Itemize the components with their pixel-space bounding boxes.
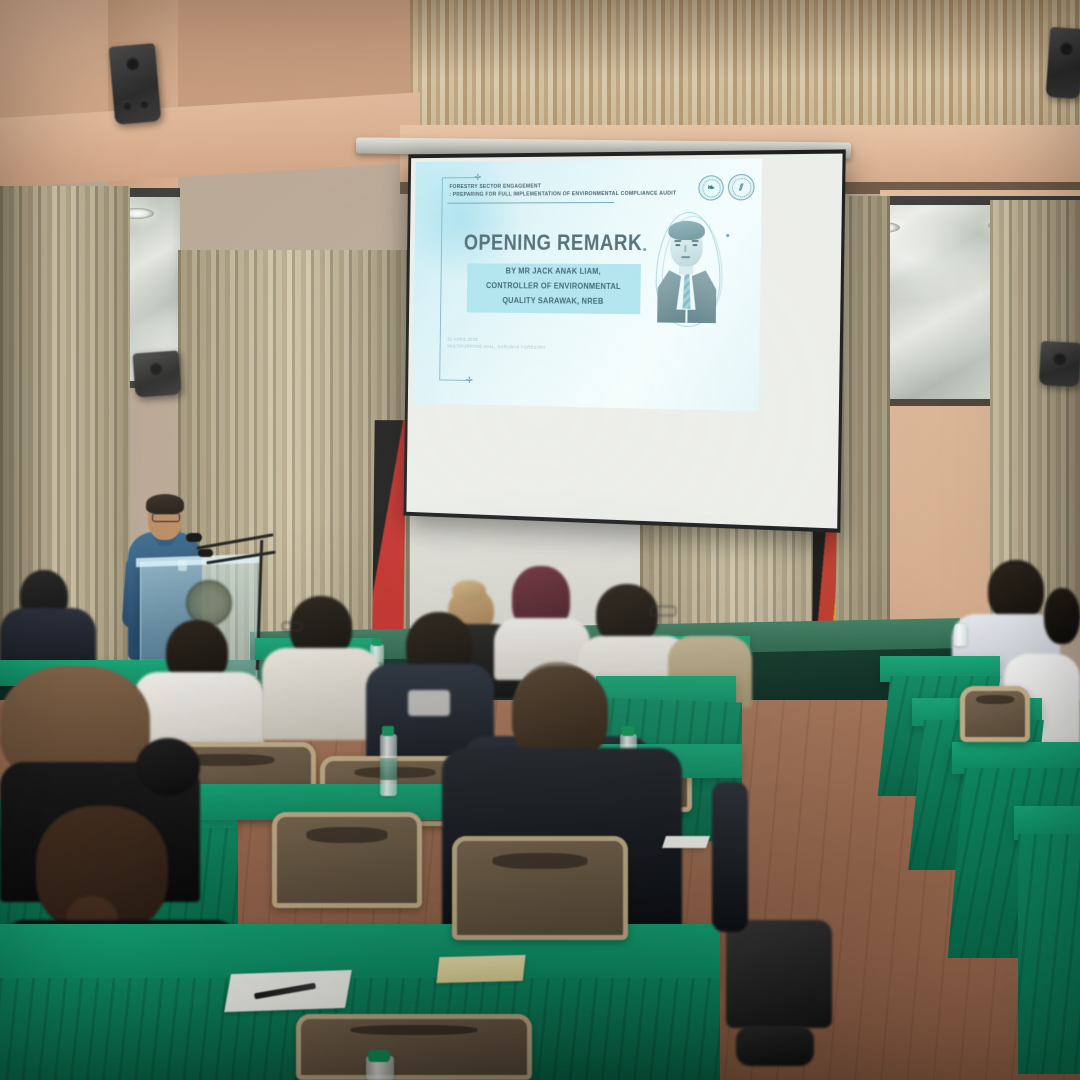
- slide-plus-marker-top: ✛: [474, 173, 481, 182]
- portrait-nose: [684, 245, 686, 252]
- water-bottle-cap-4: [622, 726, 634, 736]
- slide-header: FORESTRY SECTOR ENGAGEMENT : PREPARING F…: [449, 182, 644, 199]
- speaker-driver-icon: [1060, 42, 1074, 56]
- slide-footer-line-2: MULTIPURPOSE HALL, SARAWAK FORESTRY: [447, 342, 546, 350]
- attendee-torso-row2-b: [262, 648, 380, 740]
- portrait-mouth: [681, 256, 690, 258]
- attendee-lace-sleeve: [136, 738, 200, 796]
- chair-fg-bottom: [296, 1014, 532, 1080]
- attendee-glasses-row2-b-icon: [282, 622, 302, 631]
- nreb-logo: ❧: [698, 175, 724, 200]
- microphone-head-1: [186, 533, 202, 542]
- speaker-portrait-illustration: [649, 212, 721, 326]
- speaker-tweeter-icon: [122, 100, 132, 110]
- attendee-leg-fg: [712, 782, 748, 932]
- presentation-slide: ✛ ✛ FORESTRY SECTOR ENGAGEMENT : PREPARI…: [413, 159, 763, 412]
- portrait-brow-left: [674, 240, 681, 242]
- attendee-hair-bun: [452, 580, 486, 602]
- water-bottle-cap-5: [368, 1050, 390, 1062]
- backpack-base: [736, 1026, 814, 1066]
- slide-accent-dot-2: [726, 234, 729, 237]
- attendee-glasses-icon: [650, 606, 676, 616]
- speaker-driver-icon: [126, 57, 140, 71]
- yellow-name-card[interactable]: [436, 955, 525, 983]
- water-bottle-cap-1: [372, 638, 382, 646]
- forestry-department-logo: ⫽: [728, 174, 755, 201]
- curtain-far-right-shading: [990, 200, 1080, 620]
- wall-speaker-mid-left: [133, 350, 182, 397]
- attendee-collar-row2-c: [408, 690, 450, 716]
- speaker-port-icon: [139, 99, 149, 109]
- logo-ring-icon: [731, 177, 751, 196]
- paper-sheet-right: [662, 836, 710, 848]
- portrait-hair: [668, 221, 705, 240]
- chair-fg-mid: [452, 836, 628, 940]
- slide-byline-line-2: CONTROLLER OF ENVIRONMENTAL: [475, 278, 631, 294]
- slide-footer: 22 APRIL 2025 MULTIPURPOSE HALL, SARAWAK…: [447, 336, 546, 351]
- table-skirt-right-4: [1018, 834, 1080, 1074]
- attendee-head-right-b: [1044, 588, 1080, 644]
- projection-screen[interactable]: ✛ ✛ FORESTRY SECTOR ENGAGEMENT : PREPARI…: [404, 149, 846, 532]
- slide-byline-line-3: QUALITY SARAWAK, NREB: [475, 293, 631, 309]
- black-backpack[interactable]: [726, 920, 832, 1028]
- portrait-brow-right: [692, 240, 699, 242]
- water-bottle-2: [954, 624, 967, 646]
- water-bottle-cap-3: [382, 726, 394, 736]
- chair-handle-hole: [307, 827, 388, 842]
- wall-speaker-top-left: [109, 43, 162, 125]
- ceiling-slat-shading: [400, 0, 1080, 130]
- logo-ring-icon: [702, 179, 721, 197]
- water-bottle-3: [380, 734, 397, 796]
- chair-handle-hole: [976, 695, 1014, 704]
- slide-plus-marker-bottom: ✛: [466, 376, 473, 385]
- chair-handle-hole: [350, 1025, 477, 1036]
- wall-speaker-mid-right: [1039, 341, 1080, 387]
- chair-fg-left: [272, 812, 422, 908]
- chair-right-1: [960, 686, 1030, 742]
- screen-surface: ✛ ✛ FORESTRY SECTOR ENGAGEMENT : PREPARI…: [406, 154, 842, 529]
- speaker-driver-icon: [1053, 352, 1067, 366]
- conference-hall-photo: ✛ ✛ FORESTRY SECTOR ENGAGEMENT : PREPARI…: [0, 0, 1080, 1080]
- portrait-eye-right: [692, 244, 697, 246]
- bottle-label: [380, 758, 397, 780]
- portrait-eye-left: [675, 244, 680, 246]
- slide-byline-box: BY MR JACK ANAK LIAM, CONTROLLER OF ENVI…: [467, 263, 641, 314]
- presenter-glasses-icon: [152, 513, 180, 522]
- speaker-driver-icon: [149, 362, 163, 376]
- slide-header-line-2: : PREPARING FOR FULL IMPLEMENTATION OF E…: [449, 190, 628, 199]
- microphone-head-2: [198, 549, 213, 557]
- slide-byline-line-1: BY MR JACK ANAK LIAM,: [476, 263, 632, 279]
- slide-accent-dot-1: [643, 248, 646, 251]
- sarawak-flag-left: [372, 420, 406, 650]
- wall-speaker-top-right: [1046, 27, 1080, 99]
- slide-title: OPENING REMARK: [463, 230, 644, 256]
- attendee-head-right-a: [988, 560, 1044, 622]
- chair-handle-hole: [492, 853, 587, 870]
- presenter-hair: [146, 494, 184, 514]
